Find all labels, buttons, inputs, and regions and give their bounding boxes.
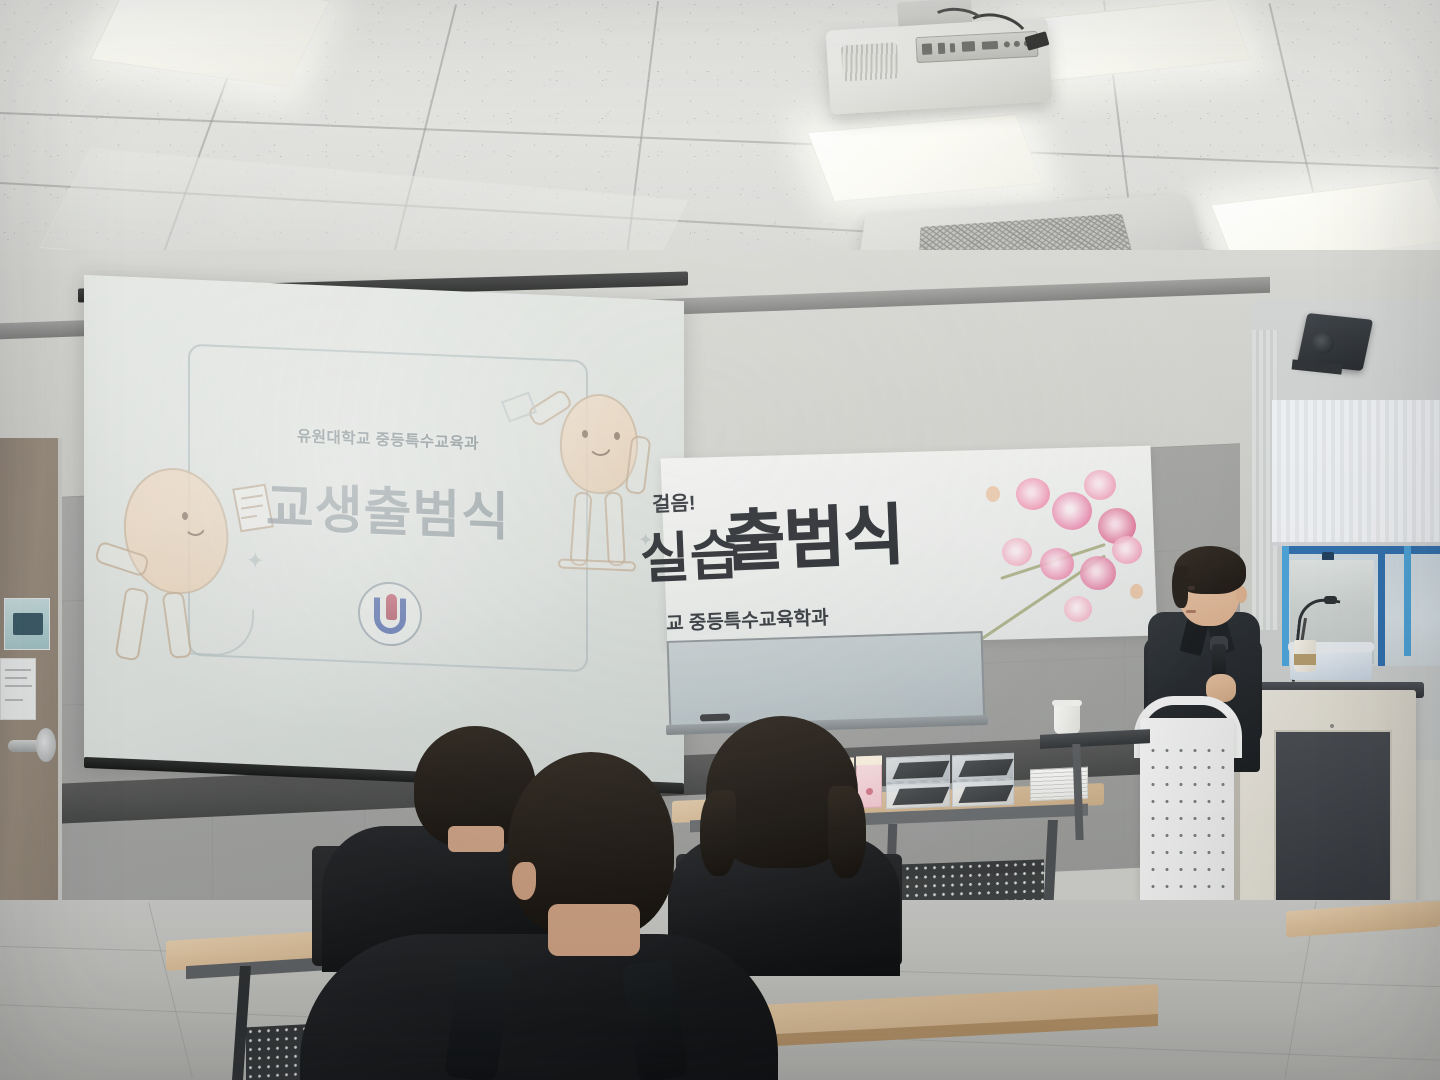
presenter-brow <box>1186 579 1197 582</box>
door-notice-poster <box>4 598 50 650</box>
egg-mascot-right-eye <box>614 432 620 440</box>
podium-front-panel <box>1274 730 1392 926</box>
cherry-blossom <box>1052 492 1092 530</box>
presenter-eye <box>1188 586 1195 590</box>
door-lock-plate[interactable] <box>36 728 56 762</box>
window-frame-mullion <box>1378 546 1385 666</box>
classroom-photo-scene: 유원대학교 중등특수교육과 교생출범식 ✦ ✦ 걸음! 실습 출범식 교 중등특… <box>0 0 1440 1080</box>
gift-box-top <box>856 755 882 765</box>
attendee-center-neck <box>548 904 640 956</box>
paper-cup-rim <box>1052 700 1082 706</box>
presenter-hair-side <box>1172 566 1188 608</box>
attendee-center-ear <box>512 862 536 900</box>
paper-cup <box>1054 702 1080 734</box>
gooseneck-microphone-head[interactable] <box>1324 596 1337 604</box>
cherry-blossom <box>1080 556 1116 590</box>
sparkle-icon: ✦ <box>246 548 264 575</box>
roller-blind[interactable] <box>1272 400 1440 546</box>
cherry-blossom-bud <box>1130 584 1143 599</box>
coffee-cup-label <box>1294 654 1316 665</box>
door-notice-paper <box>0 658 36 720</box>
podium-screw <box>1330 724 1334 728</box>
window-frame-horizontal <box>1282 546 1440 554</box>
egg-mascot-right-leg-2 <box>604 492 626 566</box>
window-frame-mullion <box>1404 546 1411 656</box>
cherry-blossom <box>1084 470 1116 500</box>
bag-contents <box>958 759 1013 777</box>
presenter-mouth <box>1186 610 1196 613</box>
attendee-right-hair-strands <box>828 786 866 878</box>
cherry-blossom <box>1112 536 1142 564</box>
banner-title: 출범식 <box>722 475 1056 585</box>
whiteboard-marker[interactable] <box>700 714 730 722</box>
projector-vent <box>841 42 899 81</box>
cherry-blossom <box>1064 596 1092 622</box>
attendee-left-neck <box>448 826 504 852</box>
attendee-center-torso <box>300 934 778 1080</box>
logo-accent-shape <box>386 594 397 620</box>
bag-contents <box>892 761 949 779</box>
bag-contents <box>892 787 949 805</box>
attendee-right-hair-strands <box>700 790 736 876</box>
bag-contents <box>958 785 1013 803</box>
